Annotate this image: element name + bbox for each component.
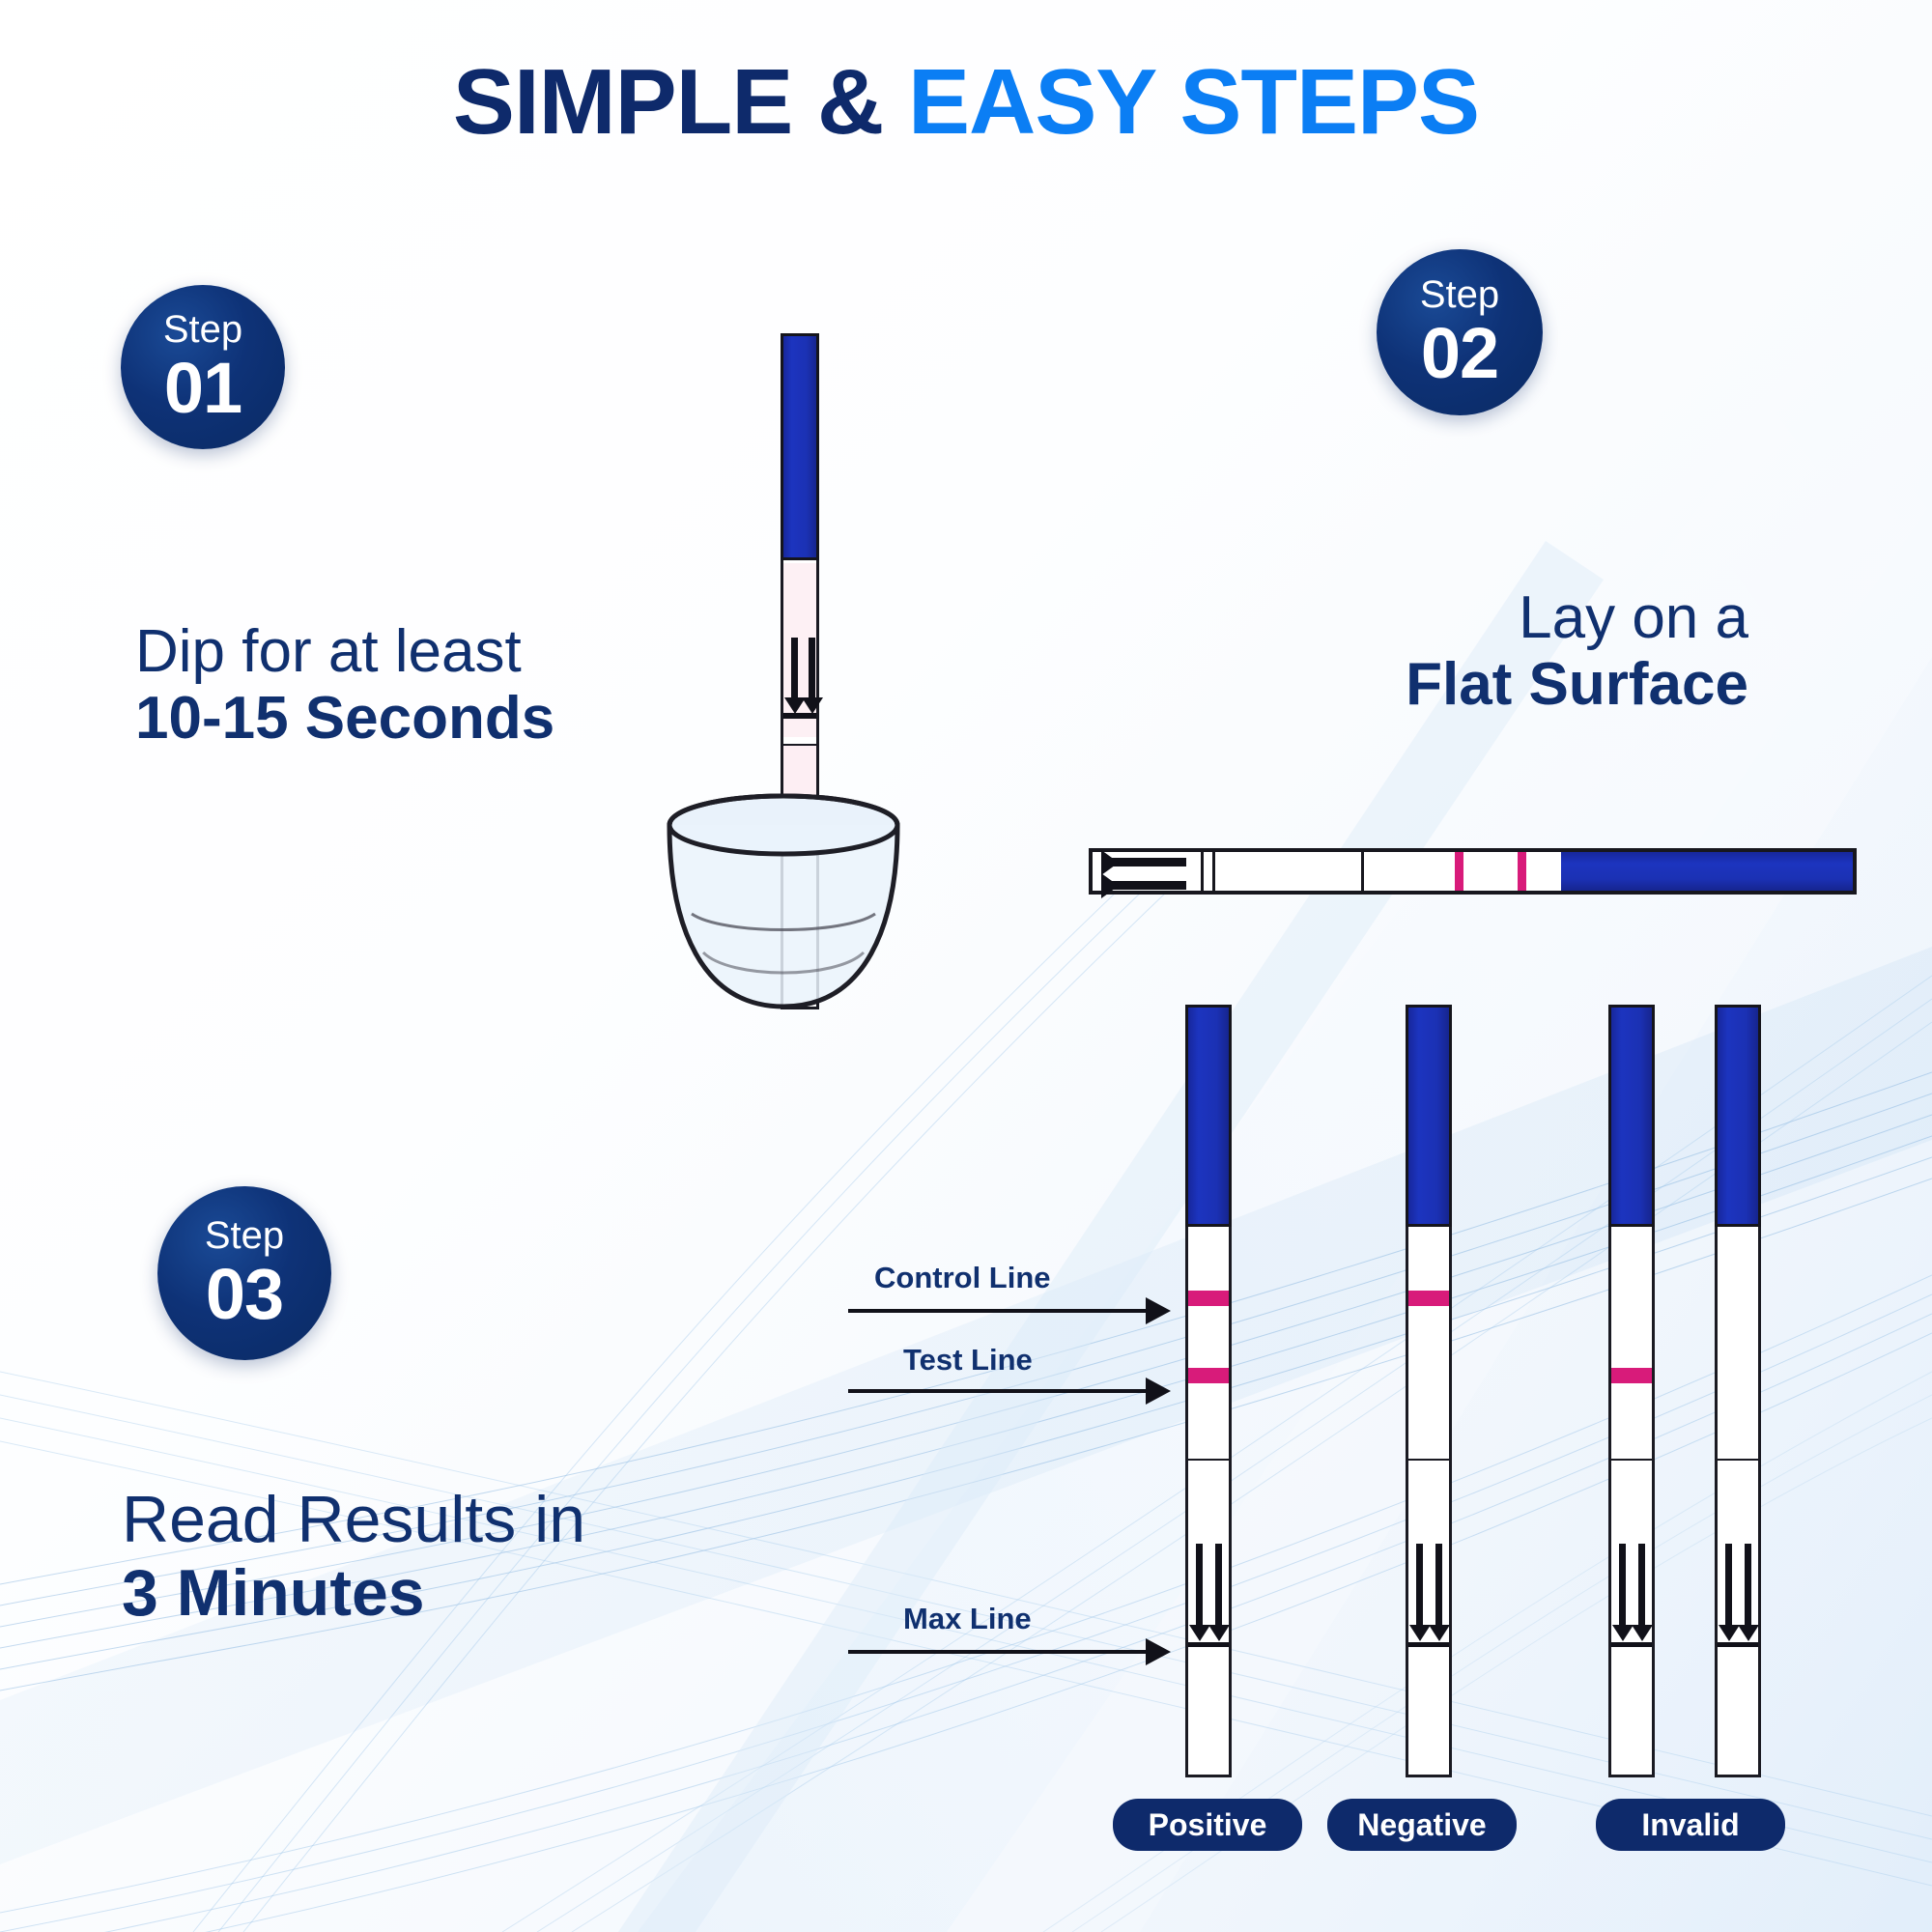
strip-blue-cap bbox=[1406, 1005, 1452, 1227]
step-badge-01-number: 01 bbox=[164, 353, 241, 424]
callout-max-line-arrowhead bbox=[1146, 1638, 1171, 1665]
step-02-line-2: Flat Surface bbox=[1014, 651, 1748, 718]
callout-max-line-leader bbox=[848, 1650, 1148, 1654]
step-badge-03-word: Step bbox=[205, 1216, 284, 1255]
status-badge-positive: Positive bbox=[1113, 1799, 1302, 1851]
arrow-down-icon-inv-1 bbox=[1619, 1544, 1627, 1646]
test-strip-icon-invalid-b bbox=[1715, 1005, 1761, 1777]
control-line-band bbox=[1408, 1291, 1449, 1306]
strip-divider bbox=[1611, 1459, 1652, 1461]
test-strip-icon-invalid-a bbox=[1608, 1005, 1655, 1777]
arrow-right-icon-h-1 bbox=[1109, 858, 1186, 867]
arrow-down-icon-inv-2 bbox=[1638, 1544, 1646, 1646]
test-line-band bbox=[1188, 1368, 1229, 1383]
callout-test-line-label: Test Line bbox=[903, 1343, 1033, 1378]
callout-max-line-label: Max Line bbox=[903, 1602, 1032, 1636]
callout-control-line-label: Control Line bbox=[874, 1261, 1051, 1295]
strip-divider bbox=[1188, 1459, 1229, 1461]
step-01-line-2: 10-15 Seconds bbox=[135, 685, 554, 752]
strip-blue-cap-h bbox=[1561, 852, 1853, 891]
strip-divider bbox=[1718, 1459, 1758, 1461]
step-03-line-1: Read Results in bbox=[122, 1483, 585, 1556]
step-03-line-2: 3 Minutes bbox=[122, 1556, 585, 1630]
arrow-head-h-1 bbox=[1101, 850, 1119, 875]
callout-control-line-leader bbox=[848, 1309, 1148, 1313]
step-badge-01: Step 01 bbox=[121, 285, 285, 449]
step-badge-01-word: Step bbox=[163, 310, 242, 349]
arrow-down-icon-pos-1 bbox=[1196, 1544, 1204, 1646]
test-line-band-h bbox=[1518, 852, 1526, 891]
step-badge-02-word: Step bbox=[1420, 275, 1499, 314]
strip-blue-cap bbox=[1608, 1005, 1655, 1227]
page-title: SIMPLE & EASY STEPS bbox=[0, 56, 1932, 149]
callout-test-line-arrowhead bbox=[1146, 1378, 1171, 1405]
step-03-text: Read Results in 3 Minutes bbox=[122, 1483, 585, 1630]
strip-segment-divider-3 bbox=[1361, 852, 1364, 891]
step-badge-02-number: 02 bbox=[1421, 318, 1498, 389]
arrow-down-icon-pos-2 bbox=[1215, 1544, 1223, 1646]
strip-blue-cap bbox=[1185, 1005, 1232, 1227]
step-01-text: Dip for at least 10-15 Seconds bbox=[135, 618, 554, 753]
strip-segment-divider-2 bbox=[1212, 852, 1215, 891]
control-line-band bbox=[1188, 1291, 1229, 1306]
page-title-part-1: SIMPLE & bbox=[453, 50, 908, 154]
arrow-down-icon-invb-2 bbox=[1745, 1544, 1752, 1646]
step-badge-03: Step 03 bbox=[157, 1186, 331, 1360]
arrow-right-icon-dip-2 bbox=[809, 638, 816, 715]
step-01-line-1: Dip for at least bbox=[135, 618, 554, 685]
step-badge-02: Step 02 bbox=[1377, 249, 1543, 415]
strip-divider bbox=[1408, 1459, 1449, 1461]
callout-control-line-arrowhead bbox=[1146, 1297, 1171, 1324]
specimen-cup-icon bbox=[663, 790, 904, 1032]
callout-test-line-leader bbox=[848, 1389, 1148, 1393]
arrow-down-icon-neg-2 bbox=[1435, 1544, 1443, 1646]
test-line-band bbox=[1611, 1368, 1652, 1383]
arrow-head-h-2 bbox=[1101, 873, 1119, 898]
step-02-text: Lay on a Flat Surface bbox=[1014, 584, 1748, 719]
control-line-band-h bbox=[1455, 852, 1463, 891]
arrow-down-icon-invb-1 bbox=[1725, 1544, 1733, 1646]
strip-segment-divider-1 bbox=[1201, 852, 1204, 891]
status-badge-negative: Negative bbox=[1327, 1799, 1517, 1851]
test-strip-icon-negative bbox=[1406, 1005, 1452, 1777]
test-strip-icon-positive bbox=[1185, 1005, 1232, 1777]
strip-blue-cap bbox=[1715, 1005, 1761, 1227]
arrow-down-icon-neg-1 bbox=[1416, 1544, 1424, 1646]
step-badge-03-number: 03 bbox=[206, 1259, 283, 1330]
status-badge-invalid: Invalid bbox=[1596, 1799, 1785, 1851]
strip-blue-cap bbox=[781, 333, 819, 560]
step-02-line-1: Lay on a bbox=[1014, 584, 1748, 651]
arrow-right-icon-dip-1 bbox=[791, 638, 799, 715]
strip-max-line-dipped bbox=[783, 713, 816, 719]
page-title-part-2: EASY STEPS bbox=[908, 50, 1479, 154]
test-strip-horizontal-icon bbox=[1089, 848, 1857, 895]
arrow-right-icon-h-2 bbox=[1109, 881, 1186, 890]
infographic-canvas: SIMPLE & EASY STEPS Step 01 Dip for at l… bbox=[0, 0, 1932, 1932]
